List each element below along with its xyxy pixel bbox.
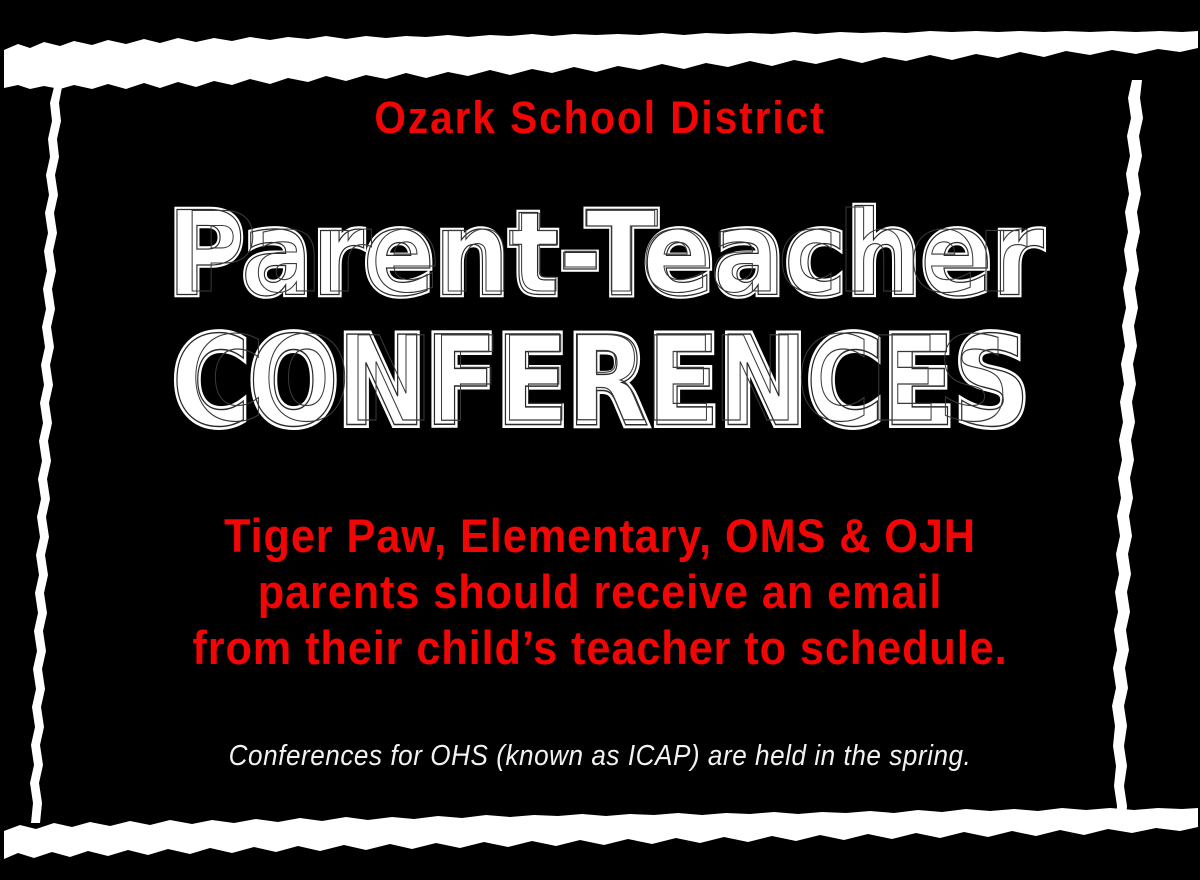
title-line1-group: Parent-Teacher Parent-Teacher Parent-Tea… (167, 196, 1044, 323)
body-copy-line-3: from their child’s teacher to schedule. (48, 620, 1152, 676)
body-copy-line-1: Tiger Paw, Elementary, OMS & OJH (48, 508, 1152, 564)
title-line2-inline-b: CONFERENCES (191, 311, 1010, 448)
border-brush-bottom (0, 805, 1200, 870)
page-title-district: Ozark School District (60, 95, 1140, 140)
display-title-block: Parent-Teacher Parent-Teacher Parent-Tea… (0, 196, 1200, 456)
title-svg: Parent-Teacher Parent-Teacher Parent-Tea… (95, 196, 1105, 456)
poster-canvas: Ozark School District Parent-Teacher Par… (0, 0, 1200, 880)
footnote-text: Conferences for OHS (known as ICAP) are … (60, 742, 1140, 771)
body-copy-line-2: parents should receive an email (48, 564, 1152, 620)
border-brush-top (0, 30, 1200, 90)
body-copy-block: Tiger Paw, Elementary, OMS & OJH parents… (48, 508, 1152, 676)
title-line1-inline-b: Parent-Teacher (183, 196, 1027, 318)
title-line2-group: CONFERENCES CONFERENCES CONFERENCES (172, 310, 1029, 455)
